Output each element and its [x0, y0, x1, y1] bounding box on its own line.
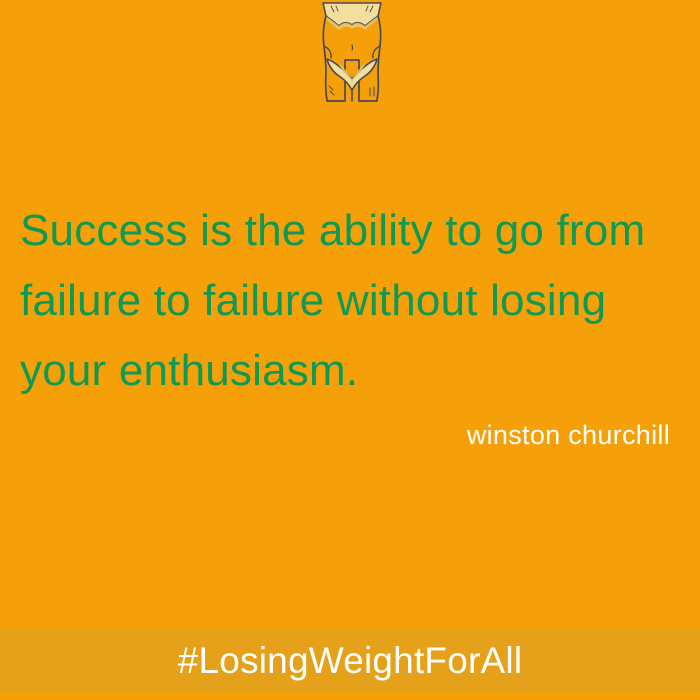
hashtag-banner: #LosingWeightForAll — [0, 630, 700, 692]
quote-line-1: Success is the ability to go from — [20, 196, 680, 266]
quote-line-2: failure to failure without losing — [20, 266, 680, 336]
quote-line-3: your enthusiasm. — [20, 336, 680, 406]
quote-text-block: Success is the ability to go from failur… — [20, 196, 680, 406]
hashtag-label: #LosingWeightForAll — [178, 640, 523, 682]
female-torso-bikini-icon — [318, 0, 386, 106]
quote-attribution: winston churchill — [20, 420, 670, 451]
poster-canvas: Success is the ability to go from failur… — [0, 0, 700, 700]
